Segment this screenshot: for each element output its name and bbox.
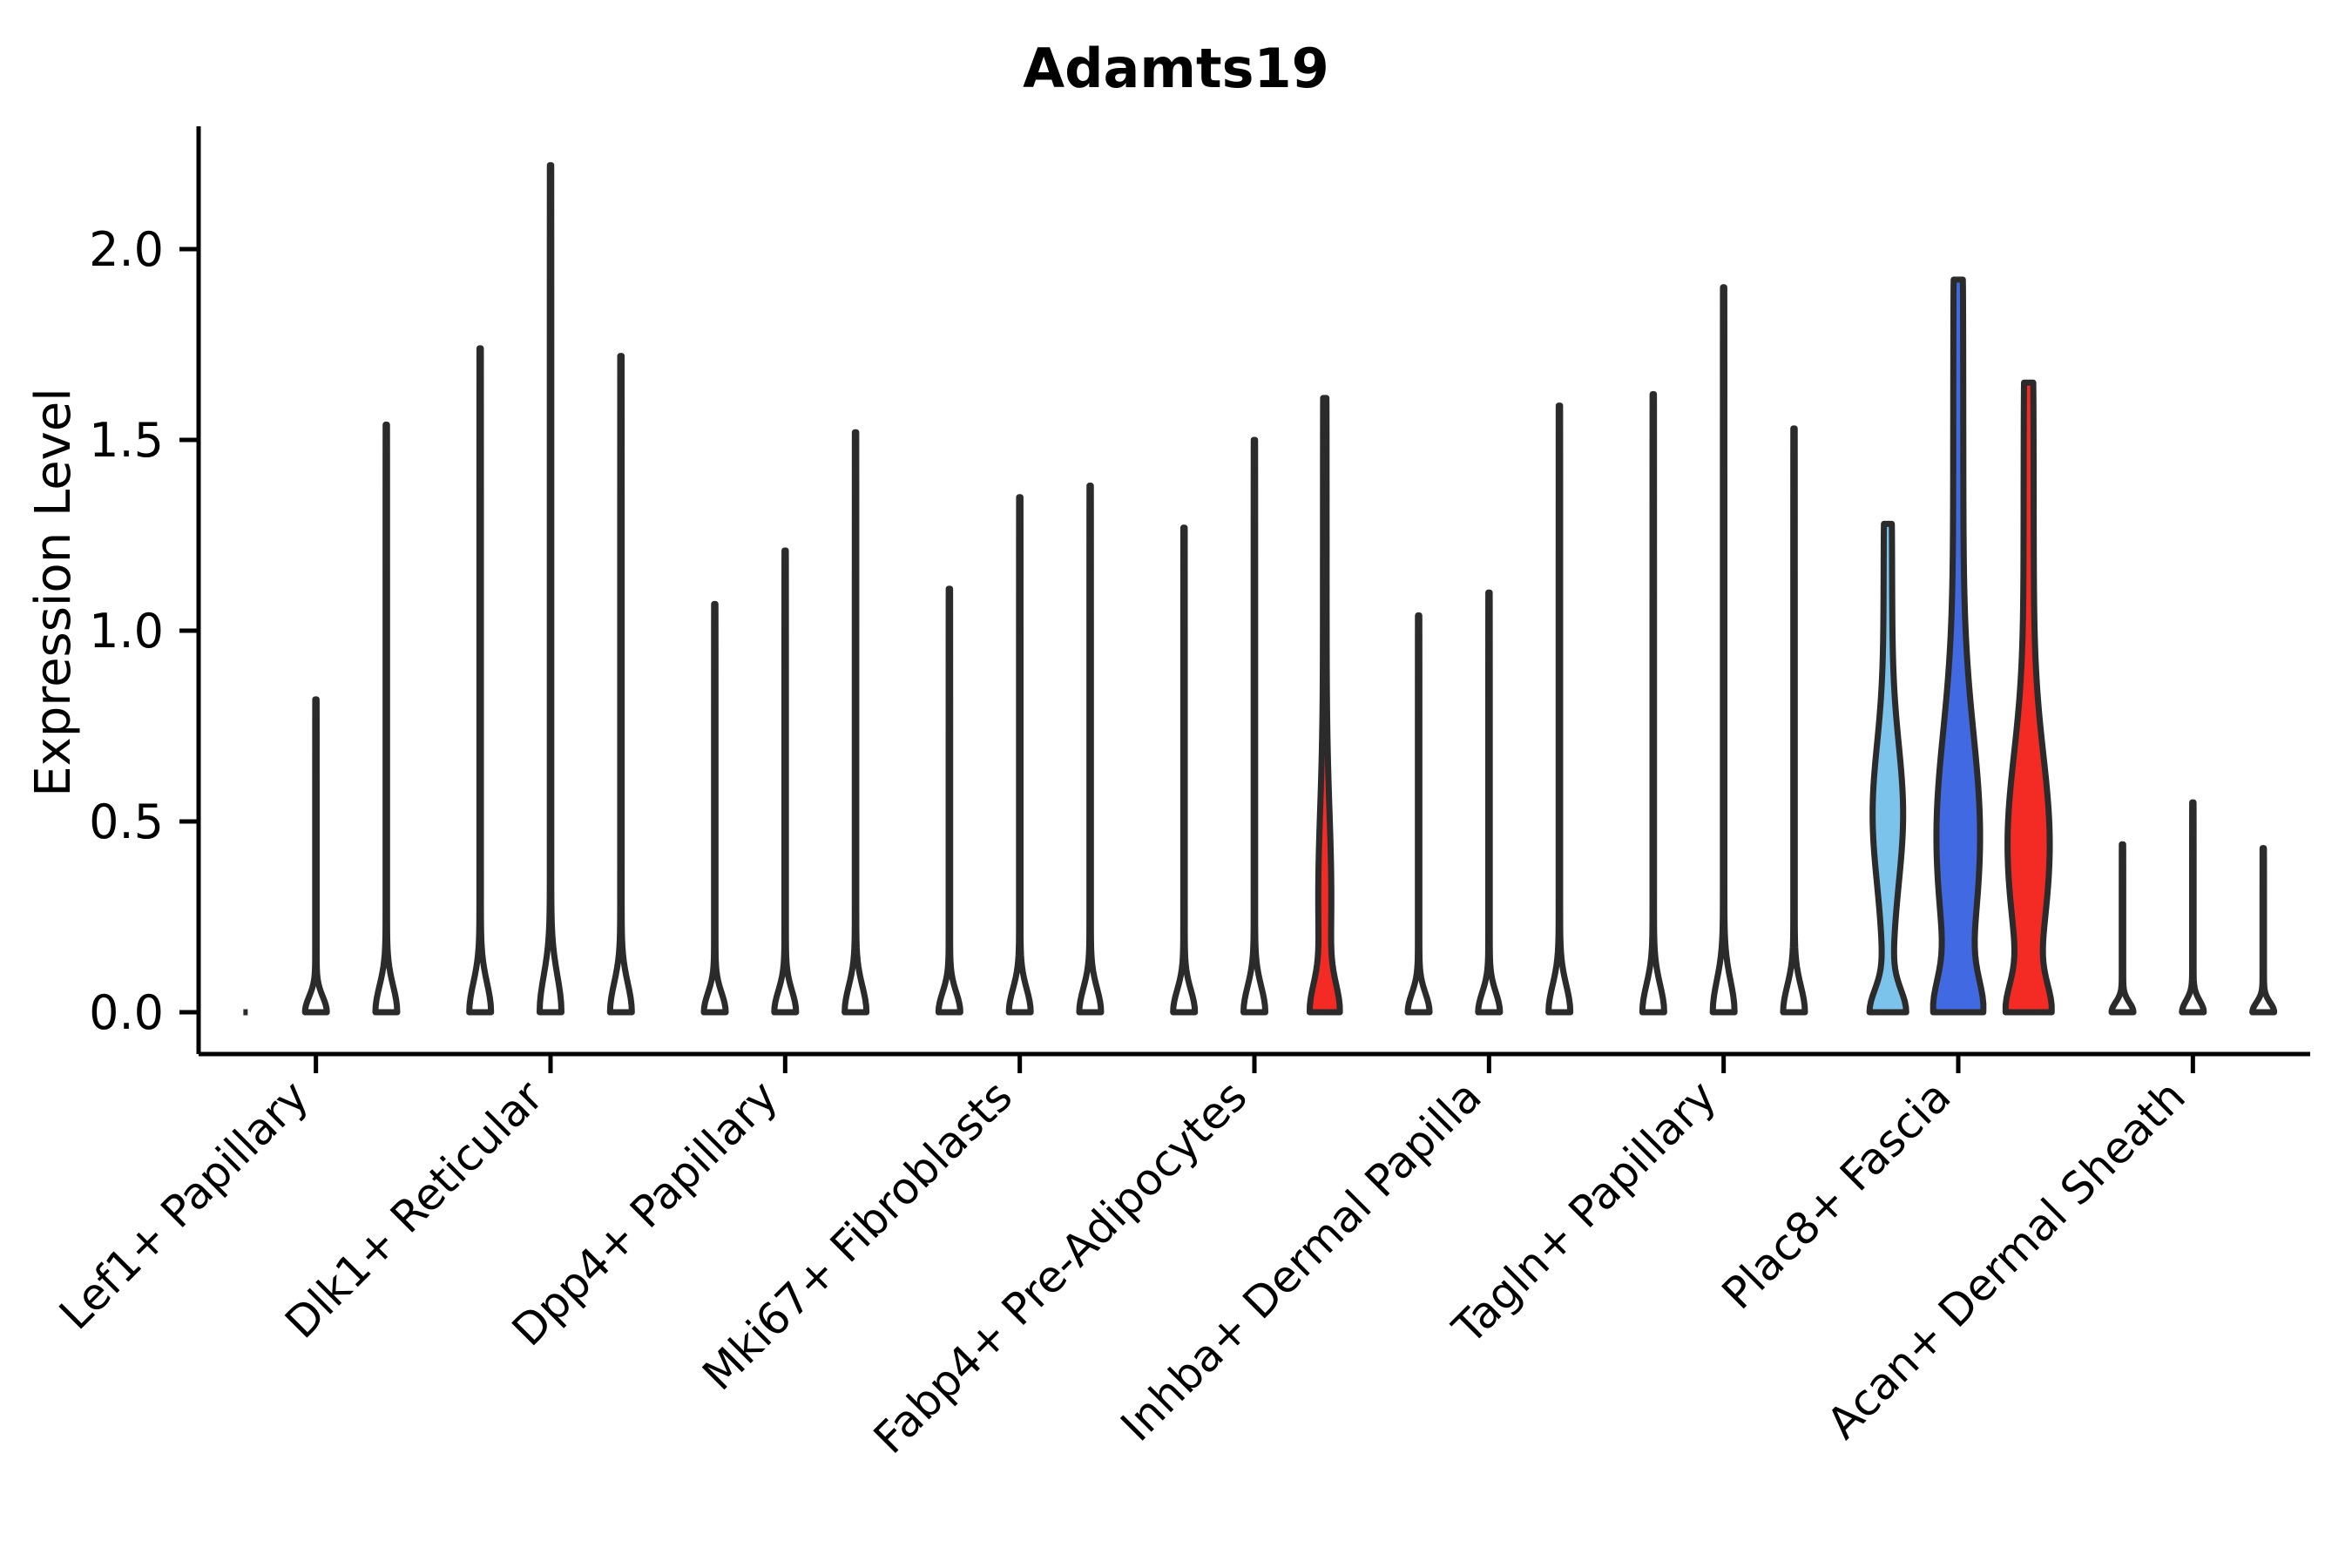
violin-shape (2253, 848, 2274, 1012)
violin-shape (470, 348, 491, 1012)
y-tick-label: 1.5 (89, 413, 164, 468)
violin-shape (2112, 844, 2133, 1012)
violin-shape (845, 432, 867, 1012)
x-tick-label: Fabp4+ Pre-Adipocytes (864, 1071, 1257, 1463)
y-axis-ticks: 0.00.51.01.52.0 (89, 222, 199, 1040)
violin-shape (1549, 406, 1571, 1012)
violin-shape (938, 589, 960, 1012)
y-tick-label: 2.0 (89, 222, 164, 277)
violin-shape (375, 424, 397, 1012)
violin-shape (2182, 802, 2204, 1012)
x-tick-label: Lef1+ Papillary (50, 1071, 318, 1339)
violin-shape (1869, 524, 1906, 1012)
violin-shape (539, 166, 561, 1012)
violin-shape (1243, 440, 1265, 1012)
violin-shape (1478, 592, 1500, 1012)
y-axis-label: Expression Level (25, 388, 82, 797)
x-axis-ticks (316, 1054, 2193, 1073)
violin-shape (2005, 382, 2051, 1012)
violin-shape (1408, 615, 1429, 1012)
violin-shape (1009, 497, 1031, 1012)
violin-shape (1642, 394, 1664, 1012)
x-tick-label: Plac8+ Fascia (1713, 1071, 1961, 1319)
violin-shape (1933, 280, 1984, 1012)
violin-series (243, 166, 2274, 1012)
page-title: Adamts19 (1023, 37, 1329, 100)
violin-shape (1783, 429, 1805, 1012)
violin-shape (305, 700, 327, 1012)
y-tick-label: 0.5 (89, 794, 164, 849)
violin-shape (704, 604, 726, 1012)
y-tick-label: 1.0 (89, 604, 164, 659)
chart-canvas: Adamts19 Expression Level 0.00.51.01.52.… (0, 0, 2352, 1568)
violin-shape (1173, 528, 1195, 1012)
violin-shape (1079, 486, 1101, 1012)
x-axis-tick-labels: Lef1+ PapillaryDlk1+ ReticularDpp4+ Papi… (50, 1071, 2195, 1463)
x-tick-label: Tagln+ Papillary (1443, 1071, 1726, 1354)
violin-shape (1309, 398, 1340, 1012)
violin-shape (1713, 287, 1734, 1012)
y-tick-label: 0.0 (89, 985, 164, 1040)
x-tick-label: Dlk1+ Reticular (275, 1071, 552, 1348)
violin-plot-figure: Adamts19 Expression Level 0.00.51.01.52.… (0, 0, 2352, 1568)
violin-shape (610, 356, 632, 1012)
violin-shape (774, 551, 796, 1012)
